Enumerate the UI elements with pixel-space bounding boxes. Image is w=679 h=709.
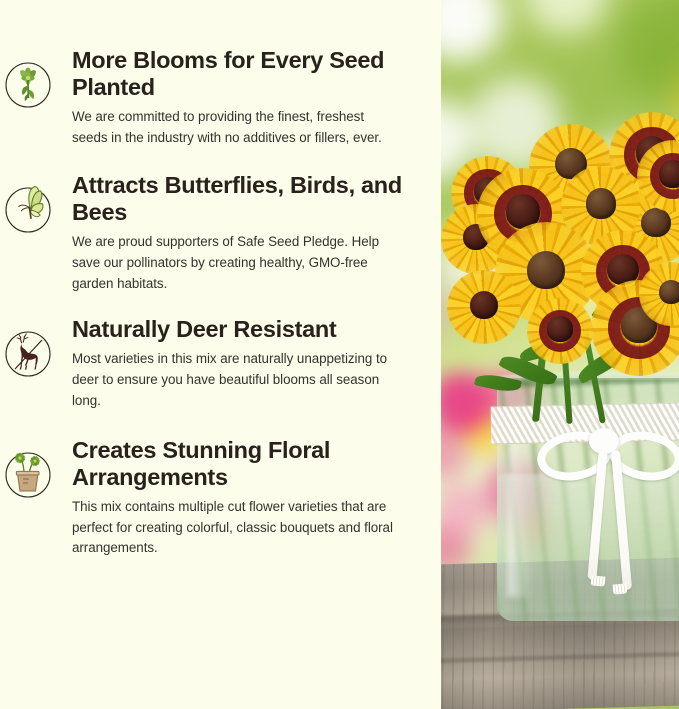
features-panel: More Blooms for Every Seed Planted We ar… [0, 0, 441, 709]
flower-sprout-icon [4, 60, 52, 110]
feature-item-deer-resistant: Naturally Deer Resistant Most varieties … [4, 316, 429, 411]
product-feature-page: More Blooms for Every Seed Planted We ar… [0, 0, 679, 709]
feature-text: More Blooms for Every Seed Planted We ar… [52, 47, 412, 149]
feature-description: This mix contains multiple cut flower va… [72, 497, 402, 560]
feature-item-floral-arrangements: Creates Stunning Floral Arrangements Thi… [4, 437, 429, 560]
feature-title: Attracts Butterflies, Birds, and Bees [72, 172, 412, 227]
potted-plant-icon [4, 450, 52, 500]
feature-description: We are proud supporters of Safe Seed Ple… [72, 232, 402, 295]
feature-item-more-blooms: More Blooms for Every Seed Planted We ar… [4, 47, 429, 149]
feature-text: Creates Stunning Floral Arrangements Thi… [52, 437, 412, 560]
feature-text: Naturally Deer Resistant Most varieties … [52, 316, 402, 411]
feature-description: We are committed to providing the finest… [72, 107, 402, 149]
feature-title: More Blooms for Every Seed Planted [72, 47, 412, 102]
feature-description: Most varieties in this mix are naturally… [72, 349, 402, 412]
rudbeckia-bouquet [441, 130, 679, 420]
feature-item-attracts-pollinators: Attracts Butterflies, Birds, and Bees We… [4, 172, 429, 295]
bow-tail-end-left [591, 575, 606, 586]
feature-title: Naturally Deer Resistant [72, 316, 402, 343]
feature-text: Attracts Butterflies, Birds, and Bees We… [52, 172, 412, 295]
bow-tail-end-right [613, 583, 628, 594]
feature-title: Creates Stunning Floral Arrangements [72, 437, 412, 492]
product-photo [441, 0, 679, 709]
deer-no-entry-icon [4, 329, 52, 379]
butterfly-icon [4, 185, 52, 235]
